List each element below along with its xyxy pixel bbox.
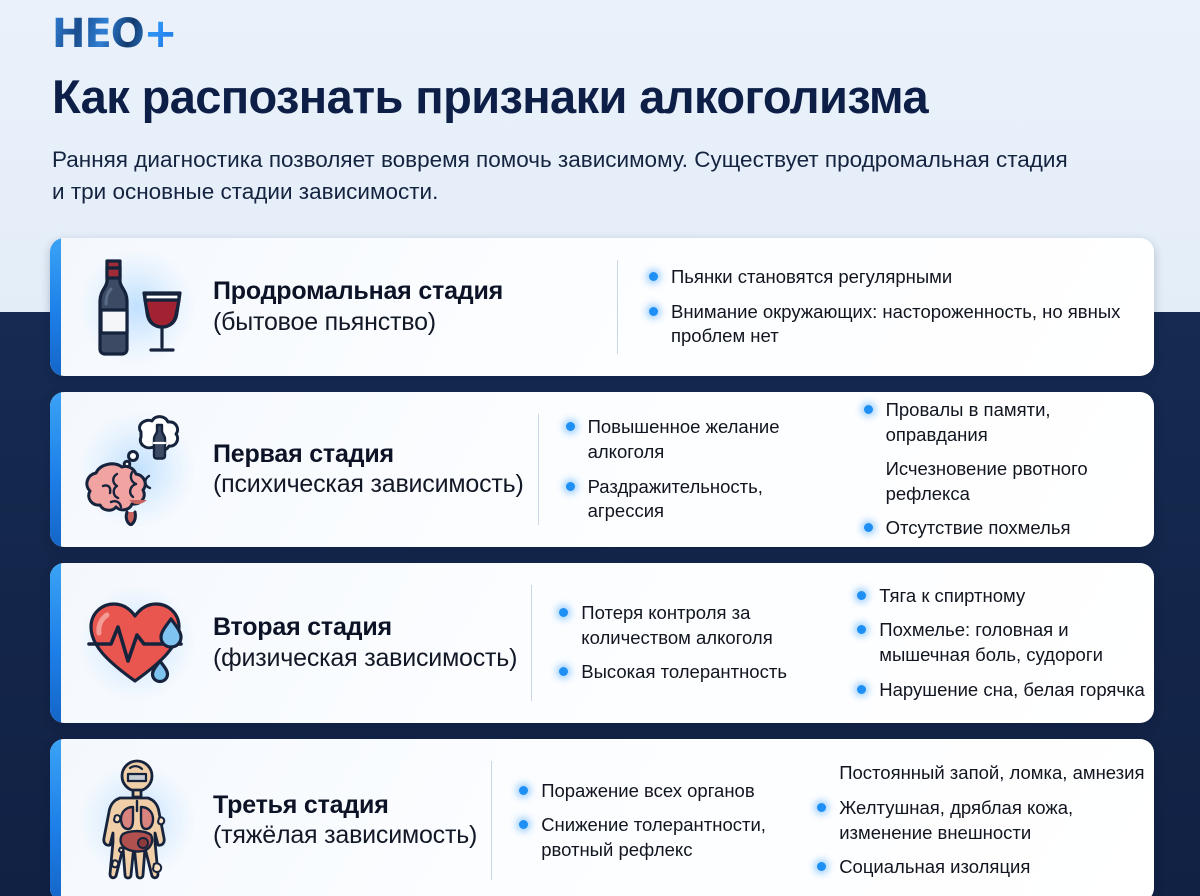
stage-name-block: Продромальная стадия (бытовое пьянство) (213, 277, 617, 337)
stage-subtitle: (бытовое пьянство) (213, 307, 603, 337)
symptom-column: Провалы в памяти, оправдания Исчезновени… (837, 398, 1154, 541)
stage-subtitle: (психическая зависимость) (213, 469, 524, 499)
list-item-label: Нарушение сна, белая горячка (879, 679, 1145, 700)
wine-bottle-and-glass-icon (61, 238, 213, 376)
list-item: Исчезновение рвотного рефлекса (863, 457, 1148, 506)
list-item-label: Постоянный запой, ломка, амнезия (839, 762, 1144, 783)
symptom-columns: Пьянки становятся регулярными Внимание о… (618, 238, 1154, 376)
human-body-organs-icon (61, 739, 213, 896)
list-item-label: Пьянки становятся регулярными (671, 266, 952, 287)
symptom-column: Потеря контроля за количеством алкоголя … (532, 601, 830, 685)
list-item: Провалы в памяти, оправдания (863, 398, 1148, 447)
list-item: Желтушная, дряблая кожа, изменение внешн… (816, 796, 1148, 845)
stage-subtitle: (тяжёлая зависимость) (213, 820, 477, 850)
list-item: Социальная изоляция (816, 855, 1148, 880)
symptom-column: Тяга к спиртному Похмелье: головная и мы… (830, 584, 1154, 702)
stage-name-block: Первая стадия (психическая зависимость) (213, 440, 538, 500)
bullet-dot (519, 820, 528, 829)
bullet-dot (857, 591, 866, 600)
list-item: Постоянный запой, ломка, амнезия (816, 761, 1148, 786)
stage-title: Вторая стадия (213, 613, 517, 643)
brand-logo-plus: + (144, 11, 177, 57)
list-item: Поражение всех органов (518, 779, 784, 804)
symptom-column: Постоянный запой, ломка, амнезия Желтушн… (790, 761, 1154, 879)
bullet-dot (559, 608, 568, 617)
list-item: Потеря контроля за количеством алкоголя (558, 601, 824, 650)
page-title: Как распознать признаки алкоголизма (52, 72, 1162, 123)
stage-name-block: Вторая стадия (физическая зависимость) (213, 613, 531, 673)
stage-card-first[interactable]: Первая стадия (психическая зависимость) … (50, 392, 1154, 547)
list-item: Похмелье: головная и мышечная боль, судо… (856, 618, 1148, 667)
list-item-label: Социальная изоляция (839, 856, 1030, 877)
stage-subtitle: (физическая зависимость) (213, 643, 517, 673)
list-item-label: Провалы в памяти, оправдания (886, 399, 1051, 445)
stage-card-second[interactable]: Вторая стадия (физическая зависимость) П… (50, 563, 1154, 723)
list-item: Тяга к спиртному (856, 584, 1148, 609)
bullet-dot (864, 405, 873, 414)
list-item-label: Высокая толерантность (581, 661, 787, 682)
symptom-columns: Повышенное желание алкоголя Раздражитель… (539, 392, 1154, 547)
list-item: Нарушение сна, белая горячка (856, 678, 1148, 703)
stage-title: Продромальная стадия (213, 277, 603, 307)
list-item: Пьянки становятся регулярными (648, 265, 1148, 290)
symptom-columns: Поражение всех органов Снижение толерант… (492, 739, 1154, 896)
bullet-dot (817, 803, 826, 812)
symptom-column: Пьянки становятся регулярными Внимание о… (618, 265, 1154, 349)
bullet-dot (857, 685, 866, 694)
brand-logo: НЕО+ (52, 14, 176, 54)
list-item-label: Исчезновение рвотного рефлекса (886, 458, 1088, 504)
list-item: Внимание окружающих: настороженность, но… (648, 300, 1148, 349)
list-item-label: Отсутствие похмелья (886, 517, 1071, 538)
list-item-label: Тяга к спиртному (879, 585, 1025, 606)
bullet-dot (864, 523, 873, 532)
brain-with-bottle-thought-icon (61, 392, 213, 547)
list-item-label: Поражение всех органов (541, 780, 755, 801)
list-item: Высокая толерантность (558, 660, 824, 685)
list-item-label: Повышенное желание алкоголя (588, 416, 780, 462)
list-item: Снижение толерантности, рвотный рефлекс (518, 813, 784, 862)
brand-logo-text: НЕО (52, 11, 144, 57)
list-item: Раздражительность, агрессия (565, 475, 831, 524)
stage-card-prodromal[interactable]: Продромальная стадия (бытовое пьянство) … (50, 238, 1154, 376)
bullet-dot (566, 482, 575, 491)
bullet-dot (649, 272, 658, 281)
stage-title: Третья стадия (213, 791, 477, 821)
list-item-label: Снижение толерантности, рвотный рефлекс (541, 814, 766, 860)
symptom-columns: Потеря контроля за количеством алкоголя … (532, 563, 1154, 723)
list-item-label: Похмелье: головная и мышечная боль, судо… (879, 619, 1103, 665)
page-subtitle: Ранняя диагностика позволяет вовремя пом… (52, 144, 1082, 208)
list-item: Отсутствие похмелья (863, 516, 1148, 541)
bullet-dot (649, 307, 658, 316)
list-item-label: Желтушная, дряблая кожа, изменение внешн… (839, 797, 1073, 843)
bullet-dot (857, 625, 866, 634)
list-item-label: Раздражительность, агрессия (588, 476, 763, 522)
bullet-dot (559, 667, 568, 676)
symptom-column: Повышенное желание алкоголя Раздражитель… (539, 415, 837, 523)
heart-with-pulse-and-droplets-icon (61, 563, 213, 723)
list-item-label: Внимание окружающих: настороженность, но… (671, 301, 1120, 347)
bullet-dot (566, 422, 575, 431)
symptom-column: Поражение всех органов Снижение толерант… (492, 779, 790, 863)
bullet-dot (519, 786, 528, 795)
stage-card-third[interactable]: Третья стадия (тяжёлая зависимость) Пора… (50, 739, 1154, 896)
stage-name-block: Третья стадия (тяжёлая зависимость) (213, 791, 491, 851)
stage-title: Первая стадия (213, 440, 524, 470)
list-item-label: Потеря контроля за количеством алкоголя (581, 602, 772, 648)
list-item: Повышенное желание алкоголя (565, 415, 831, 464)
bullet-dot (817, 862, 826, 871)
